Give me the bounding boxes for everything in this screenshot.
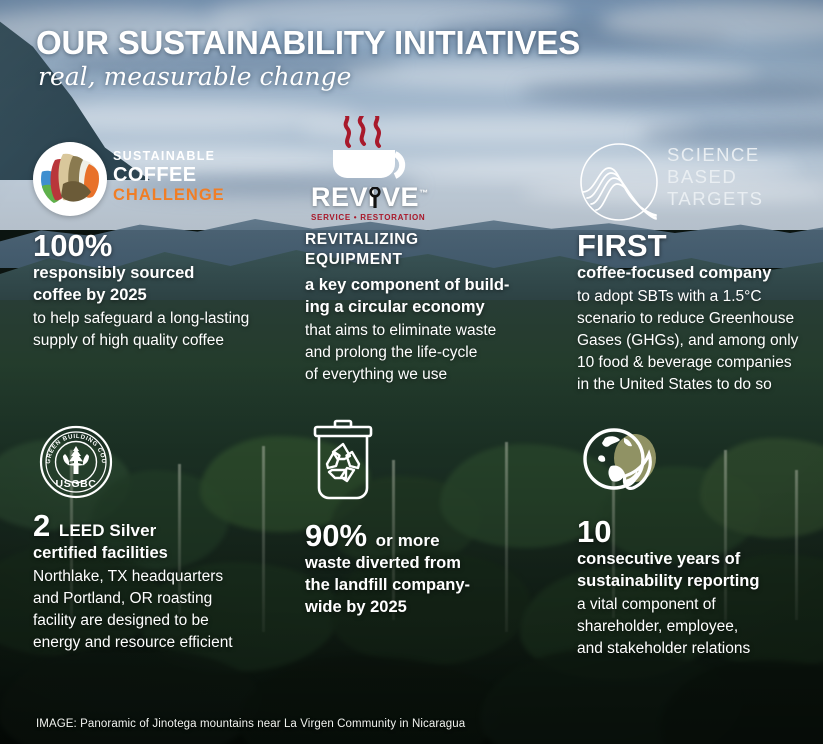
- revive-wordmark: REVIVE™: [311, 184, 431, 211]
- scc-disc-icon: [33, 142, 107, 216]
- usgbc-seal-icon: U.S. GREEN BUILDING COUNCIL USGBC: [38, 424, 114, 500]
- card-waste-diverted-from-landfill: 90% or more waste diverted from the land…: [305, 424, 563, 620]
- sbt-circle-wave-icon: [577, 140, 661, 224]
- stat-bold-text: a key component of build- ing a circular…: [305, 275, 563, 319]
- stat-bold-text: waste diverted from the landfill company…: [305, 553, 563, 619]
- stat-bold-text: coffee-focused company: [577, 263, 823, 285]
- stat-block: 90% or more waste diverted from the land…: [305, 520, 563, 619]
- sustainability-infographic: OUR SUSTAINABILITY INITIATIVES real, mea…: [0, 0, 823, 744]
- stat-bold-text: responsibly sourced coffee by 2025: [33, 263, 291, 307]
- globe-leaf-icon: [579, 424, 671, 506]
- sbt-wordmark: SCIENCE BASED TARGETS: [667, 144, 764, 209]
- stat-suffix: or more: [376, 531, 440, 550]
- recycle-bin-icon: [307, 418, 379, 506]
- stat-bold-text: consecutive years of sustainability repo…: [577, 549, 823, 593]
- scc-line-sustainable: SUSTAINABLE: [113, 150, 225, 163]
- svg-text:USGBC: USGBC: [56, 478, 97, 490]
- stat-value: 2 LEED Silver: [33, 510, 291, 542]
- logo-globe-leaf: [577, 424, 823, 512]
- stat-bold-text: certified facilities: [33, 543, 291, 565]
- stat-value: 100%: [33, 230, 291, 262]
- card-revive-service-restoration: REVIVE™ SERVICE • RESTORATION REVITALIZI…: [305, 140, 563, 386]
- coffee-cup-steam-icon: [311, 116, 427, 182]
- page-title: OUR SUSTAINABILITY INITIATIVES: [36, 24, 580, 62]
- stat-eyebrow: REVITALIZING EQUIPMENT: [305, 230, 563, 270]
- logo-usgbc: U.S. GREEN BUILDING COUNCIL USGBC: [33, 424, 291, 506]
- logo-sustainable-coffee-challenge: SUSTAINABLE COFFEE CHALLENGE: [33, 140, 291, 226]
- stat-body-text: that aims to eliminate waste and prolong…: [305, 320, 563, 386]
- stat-suffix: LEED Silver: [59, 521, 156, 540]
- scc-wordmark: SUSTAINABLE COFFEE CHALLENGE: [113, 150, 225, 203]
- scc-leaf-mark-icon: [33, 142, 107, 216]
- stat-value: 90% or more: [305, 520, 563, 552]
- stat-block: 100% responsibly sourced coffee by 2025 …: [33, 230, 291, 352]
- logo-revive: REVIVE™ SERVICE • RESTORATION: [305, 140, 563, 226]
- stat-block: 10 consecutive years of sustainability r…: [577, 516, 823, 660]
- stat-block: REVITALIZING EQUIPMENT a key component o…: [305, 230, 563, 386]
- image-caption: IMAGE: Panoramic of Jinotega mountains n…: [36, 718, 465, 730]
- scc-line-challenge: CHALLENGE: [113, 187, 225, 204]
- card-science-based-targets: SCIENCE BASED TARGETS FIRST coffee-focus…: [577, 140, 823, 396]
- stat-body-text: to adopt SBTs with a 1.5°C scenario to r…: [577, 286, 823, 396]
- sbt-line-targets: TARGETS: [667, 188, 764, 210]
- wrench-glyph-icon: [368, 187, 382, 209]
- card-sustainability-reporting-years: 10 consecutive years of sustainability r…: [577, 424, 823, 660]
- page-subtitle: real, measurable change: [38, 62, 351, 91]
- scc-line-coffee: COFFEE: [113, 165, 225, 185]
- stat-body-text: to help safeguard a long-lasting supply …: [33, 308, 291, 352]
- sbt-line-based: BASED: [667, 166, 764, 188]
- stat-body-text: Northlake, TX headquarters and Portland,…: [33, 566, 291, 654]
- stat-value: FIRST: [577, 230, 823, 262]
- card-sustainable-coffee-challenge: SUSTAINABLE COFFEE CHALLENGE 100% respon…: [33, 140, 291, 352]
- sbt-line-science: SCIENCE: [667, 144, 764, 166]
- logo-science-based-targets: SCIENCE BASED TARGETS: [577, 140, 823, 226]
- logo-recycle-bin: [305, 424, 563, 516]
- revive-tagline: SERVICE • RESTORATION: [311, 213, 431, 222]
- stat-body-text: a vital component of shareholder, employ…: [577, 594, 823, 660]
- card-leed-silver-facilities: U.S. GREEN BUILDING COUNCIL USGBC 2 LEED…: [33, 424, 291, 654]
- stat-block: FIRST coffee-focused company to adopt SB…: [577, 230, 823, 396]
- stat-block: 2 LEED Silver certified facilities North…: [33, 510, 291, 654]
- stat-value: 10: [577, 516, 823, 548]
- stat-number: 90%: [305, 518, 367, 553]
- stat-number: 2: [33, 508, 50, 543]
